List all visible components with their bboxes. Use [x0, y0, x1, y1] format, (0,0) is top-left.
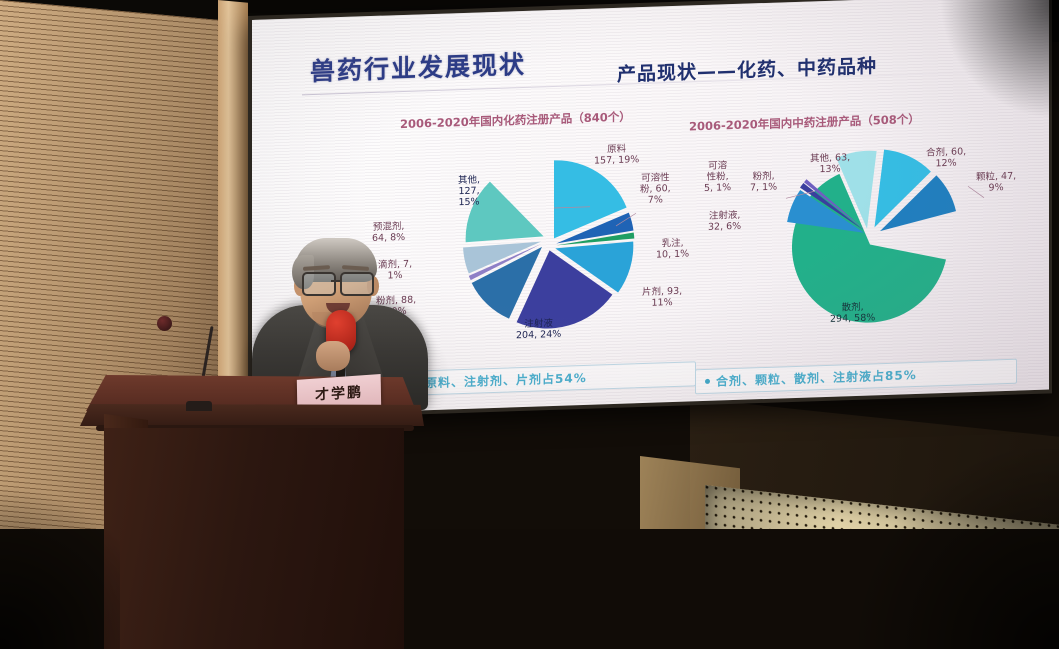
- lecture-hall-scene: 兽药行业发展现状 产品现状——化药、中药品种 2006-2020年国内化药注册产…: [0, 0, 1059, 649]
- speaker-glasses-right-lens: [340, 272, 374, 296]
- pie-label-yuanliao: 原料157, 19%: [594, 143, 639, 167]
- vignette-bottom-right: [839, 449, 1059, 649]
- pie-label-yuhunji: 预混剂,64, 8%: [372, 221, 405, 244]
- chart-title-tcm: 2006-2020年国内中药注册产品（508个）: [689, 111, 920, 135]
- vignette-top-right: [939, 0, 1059, 120]
- bullet-dot-icon: [705, 379, 710, 384]
- pie-label-sanji: 散剂,294, 58%: [830, 301, 875, 325]
- speaker-hand: [316, 341, 350, 371]
- gooseneck-microphone-head: [157, 316, 172, 331]
- pie-label-kerongxingfen: 可溶性粉, 60,7%: [640, 172, 671, 206]
- pie-label-fenji-right: 粉剂,7, 1%: [750, 171, 777, 194]
- pie-label-heji: 合剂, 60,12%: [926, 146, 966, 169]
- speaker-glasses-left-lens: [302, 272, 336, 296]
- vignette-bottom-left: [0, 449, 120, 649]
- nameplate-text: 才学鹏: [315, 381, 363, 404]
- speaker-glasses-bridge: [331, 280, 342, 282]
- pie-label-kerongxingfen-right: 可溶性粉,5, 1%: [704, 160, 731, 194]
- pie-label-zhusheye-right: 注射液,32, 6%: [708, 210, 741, 233]
- pie-label-keli: 颗粒, 47,9%: [976, 171, 1016, 194]
- pie-label-zhusheye: 注射液204, 24%: [516, 318, 561, 342]
- pie-label-ruzhu: 乳注,10, 1%: [656, 237, 689, 260]
- pie-label-pianji: 片剂, 93,11%: [642, 286, 682, 309]
- caption-tcm: 合剂、颗粒、散剂、注射液占85%: [695, 359, 1017, 395]
- pie-label-qita-right: 其他, 63,13%: [810, 152, 850, 175]
- slide-title: 兽药行业发展现状: [310, 45, 526, 88]
- pie-chart-tcm: 可溶性粉,5, 1% 粉剂,7, 1% 注射液,32, 6% 其他, 63,13…: [722, 144, 1022, 344]
- chart-title-chemical: 2006-2020年国内化药注册产品（840个）: [400, 108, 631, 132]
- caption-tcm-text: 合剂、颗粒、散剂、注射液占85%: [716, 366, 917, 390]
- pie-label-qita-left: 其他,127,15%: [458, 174, 480, 208]
- podium-body: 南京农业大学 1902 NANJING AGRICULTURAL UNIVERS…: [104, 428, 404, 649]
- microphone-base: [186, 401, 212, 411]
- slide-subtitle: 产品现状——化药、中药品种: [617, 51, 877, 87]
- pie-label-diji: 滴剂, 7,1%: [378, 259, 412, 282]
